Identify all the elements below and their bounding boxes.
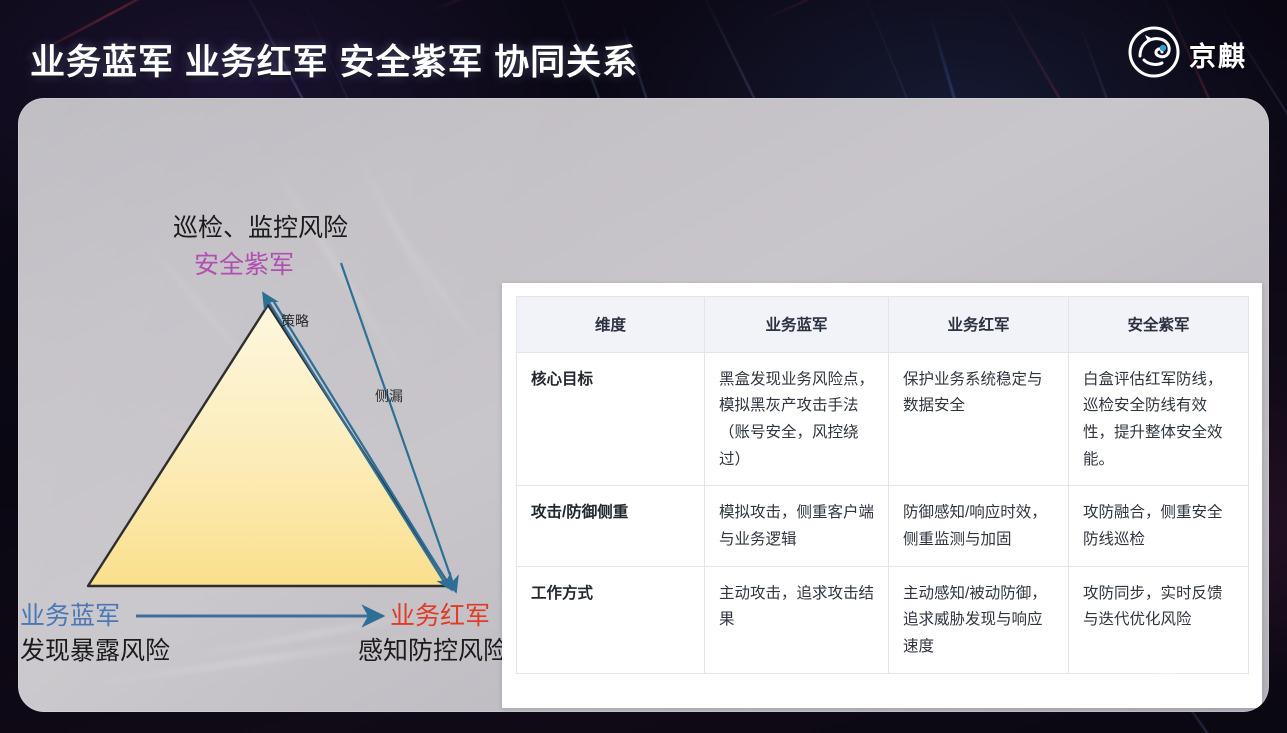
cell-attack-defense-purple: 攻防融合，侧重安全防线巡检 — [1069, 486, 1249, 566]
collaboration-triangle-diagram: 巡检、监控风险 安全紫军 业务蓝军 发现暴露风险 业务红军 感知防控风险 策略 … — [18, 98, 518, 712]
brand-name: 京麒 — [1189, 35, 1247, 74]
qilin-head-icon — [1128, 26, 1180, 83]
table-col-header-dimension: 维度 — [517, 297, 705, 353]
table-row: 攻击/防御侧重 模拟攻击，侧重客户端与业务逻辑 防御感知/响应时效，侧重监测与加… — [517, 486, 1249, 566]
cell-core-goal-red: 保护业务系统稳定与数据安全 — [889, 352, 1069, 486]
triangle-shape — [88, 305, 450, 586]
diagram-edge-label-strategy: 策略 — [281, 311, 309, 331]
cell-core-goal-blue: 黑盒发现业务风险点，模拟黑灰产攻击手法（账号安全，风控绕过） — [705, 352, 889, 486]
row-label-core-goal: 核心目标 — [517, 352, 705, 486]
comparison-table-card: 维度 业务蓝军 业务红军 安全紫军 核心目标 黑盒发现业务风险点，模拟黑灰产攻击… — [502, 283, 1262, 708]
cell-work-mode-blue: 主动攻击，追求攻击结果 — [705, 566, 889, 673]
page-title: 业务蓝军 业务红军 安全紫军 协同关系 — [30, 34, 638, 85]
diagram-label-purple-team: 安全紫军 — [194, 245, 294, 281]
table-row: 核心目标 黑盒发现业务风险点，模拟黑灰产攻击手法（账号安全，风控绕过） 保护业务… — [517, 352, 1249, 486]
row-label-attack-defense: 攻击/防御侧重 — [517, 486, 705, 566]
slide-stage: 业务蓝军 业务红军 安全紫军 协同关系 京麒 — [0, 0, 1287, 733]
diagram-label-red-team: 业务红军 — [390, 596, 490, 632]
content-panel: 巡检、监控风险 安全紫军 业务蓝军 发现暴露风险 业务红军 感知防控风险 策略 … — [18, 98, 1269, 712]
table-col-header-blue-team: 业务蓝军 — [705, 297, 889, 353]
brand-lockup: 京麒 — [1128, 26, 1247, 83]
row-label-work-mode: 工作方式 — [517, 566, 705, 673]
cell-core-goal-purple: 白盒评估红军防线，巡检安全防线有效性，提升整体安全效能。 — [1069, 352, 1249, 486]
diagram-label-blue-team: 业务蓝军 — [20, 596, 120, 632]
table-header-row: 维度 业务蓝军 业务红军 安全紫军 — [517, 297, 1249, 353]
table-col-header-red-team: 业务红军 — [889, 297, 1069, 353]
diagram-label-top-risk: 巡检、监控风险 — [173, 208, 348, 244]
cell-work-mode-purple: 攻防同步，实时反馈与迭代优化风险 — [1069, 566, 1249, 673]
cell-work-mode-red: 主动感知/被动防御，追求威胁发现与响应速度 — [889, 566, 1069, 673]
table-col-header-purple-team: 安全紫军 — [1069, 297, 1249, 353]
title-bar: 业务蓝军 业务红军 安全紫军 协同关系 京麒 — [0, 0, 1287, 100]
diagram-edge-label-leak: 侧漏 — [375, 386, 403, 406]
cell-attack-defense-blue: 模拟攻击，侧重客户端与业务逻辑 — [705, 486, 889, 566]
cell-attack-defense-red: 防御感知/响应时效，侧重监测与加固 — [889, 486, 1069, 566]
table-row: 工作方式 主动攻击，追求攻击结果 主动感知/被动防御，追求威胁发现与响应速度 攻… — [517, 566, 1249, 673]
comparison-table: 维度 业务蓝军 业务红军 安全紫军 核心目标 黑盒发现业务风险点，模拟黑灰产攻击… — [516, 296, 1249, 674]
diagram-label-left-risk: 发现暴露风险 — [20, 631, 170, 667]
diagram-label-right-risk: 感知防控风险 — [358, 631, 508, 667]
